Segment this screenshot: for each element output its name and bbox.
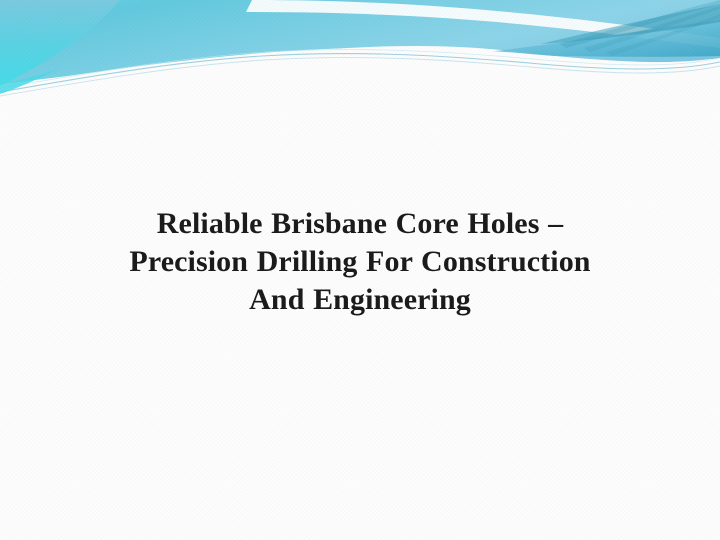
title-slide: Reliable Brisbane Core Holes – Precision… — [0, 0, 720, 540]
title-line-3: And Engineering — [60, 281, 660, 319]
wave-banner-decoration — [0, 0, 720, 100]
slide-title: Reliable Brisbane Core Holes – Precision… — [60, 205, 660, 319]
title-line-1: Reliable Brisbane Core Holes – — [60, 205, 660, 243]
title-line-2: Precision Drilling For Construction — [60, 243, 660, 281]
